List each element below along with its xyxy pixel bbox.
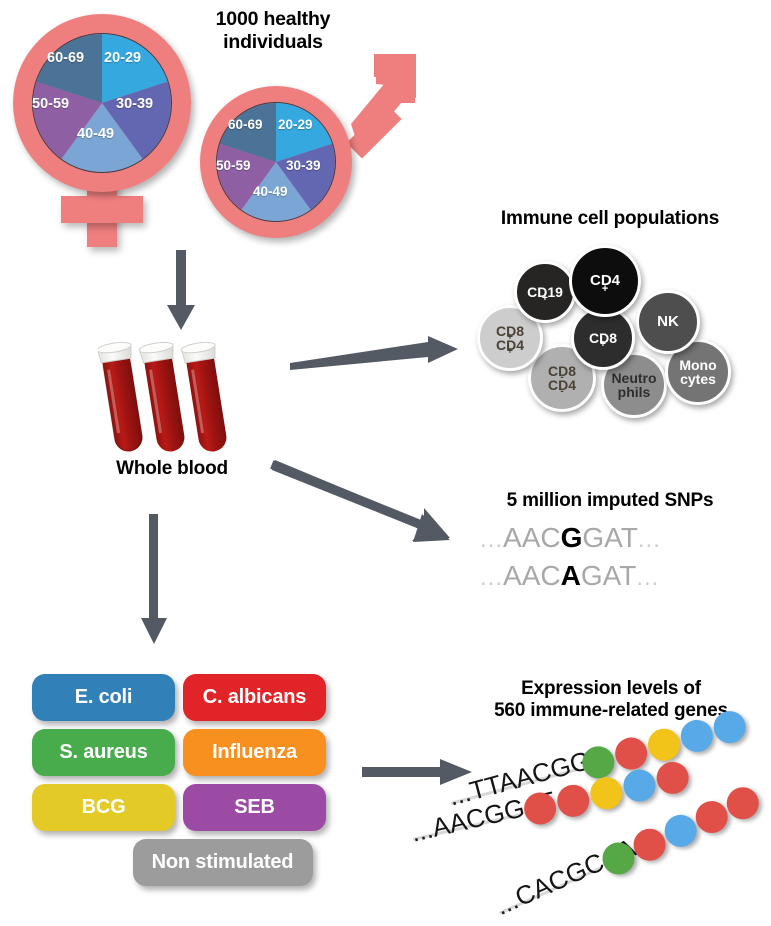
figure-canvas: 1000 healthy individuals 20-29 30-39 40-… bbox=[0, 0, 771, 922]
immune-cell-label: phils bbox=[618, 385, 651, 399]
gene-expression-dot bbox=[653, 759, 691, 797]
snp-bases-right: GAT bbox=[581, 560, 636, 592]
immune-cell-label: CD4+ bbox=[590, 273, 620, 288]
immune-cell-bubble[interactable]: NK bbox=[636, 290, 700, 354]
gene-expression-dot bbox=[710, 708, 749, 747]
gene-expression-dot bbox=[587, 774, 625, 812]
immune-cell-label: CD8+ bbox=[496, 324, 524, 338]
stimulation-pill[interactable]: S. aureus bbox=[32, 729, 175, 776]
snp-bases-right: GAT bbox=[582, 522, 637, 554]
immune-cell-label: CD8+ bbox=[589, 331, 617, 345]
snp-sequence-row: ...AACAGAT... bbox=[480, 560, 659, 592]
immune-cell-bubble[interactable]: CD19+ bbox=[514, 261, 576, 323]
immune-cell-label: Neutro bbox=[611, 371, 656, 385]
snp-bases-left: AAC bbox=[503, 522, 561, 554]
stimulation-pill-label: S. aureus bbox=[59, 741, 147, 764]
stimulation-pill[interactable]: Non stimulated bbox=[133, 839, 313, 886]
snp-variant-base: G bbox=[561, 522, 583, 554]
snp-bases-left: AAC bbox=[503, 560, 561, 592]
immune-cell-label: CD8- bbox=[548, 364, 576, 378]
snp-sequence-row: ...AACGGAT... bbox=[480, 522, 661, 554]
snp-ellipsis-left: ... bbox=[480, 526, 503, 554]
immune-cell-label: CD4- bbox=[548, 378, 576, 392]
immune-cell-label: CD19+ bbox=[527, 285, 563, 299]
immune-cell-label: CD4+ bbox=[496, 338, 524, 352]
stimulation-pill-label: SEB bbox=[234, 796, 275, 819]
snp-ellipsis-right: ... bbox=[638, 526, 661, 554]
immune-cell-label: NK bbox=[657, 314, 679, 329]
stimulation-panel: E. coliC. albicansS. aureusInfluenzaBCGS… bbox=[32, 674, 332, 894]
immune-cell-bubble[interactable]: CD4+ bbox=[569, 245, 641, 317]
stimulation-pill-label: E. coli bbox=[75, 686, 133, 709]
stimulation-pill-label: C. albicans bbox=[203, 686, 306, 709]
stimulation-pill-label: BCG bbox=[82, 796, 126, 819]
stimulation-pill-label: Influenza bbox=[212, 741, 297, 764]
snp-ellipsis-right: ... bbox=[636, 564, 659, 592]
immune-cell-label: cytes bbox=[680, 372, 716, 386]
stimulation-pill[interactable]: SEB bbox=[183, 784, 326, 831]
gene-expression-dot bbox=[620, 766, 658, 804]
expression-title-line1: Expression levels of bbox=[452, 678, 770, 700]
immune-cell-label: Mono bbox=[679, 358, 716, 372]
snp-ellipsis-left: ... bbox=[480, 564, 503, 592]
snp-sequences: ...AACGGAT......AACAGAT... bbox=[480, 522, 750, 612]
gene-strands: ...TTAACGG...AACGGAT...CACGCAA bbox=[440, 740, 771, 922]
snp-variant-base: A bbox=[561, 560, 581, 592]
snps-title: 5 million imputed SNPs bbox=[450, 490, 770, 512]
stimulation-pill[interactable]: C. albicans bbox=[183, 674, 326, 721]
gene-expression-dot bbox=[554, 782, 592, 820]
stimulation-pill[interactable]: E. coli bbox=[32, 674, 175, 721]
stimulation-pill-label: Non stimulated bbox=[152, 851, 294, 874]
stimulation-pill[interactable]: Influenza bbox=[183, 729, 326, 776]
stimulation-pill[interactable]: BCG bbox=[32, 784, 175, 831]
